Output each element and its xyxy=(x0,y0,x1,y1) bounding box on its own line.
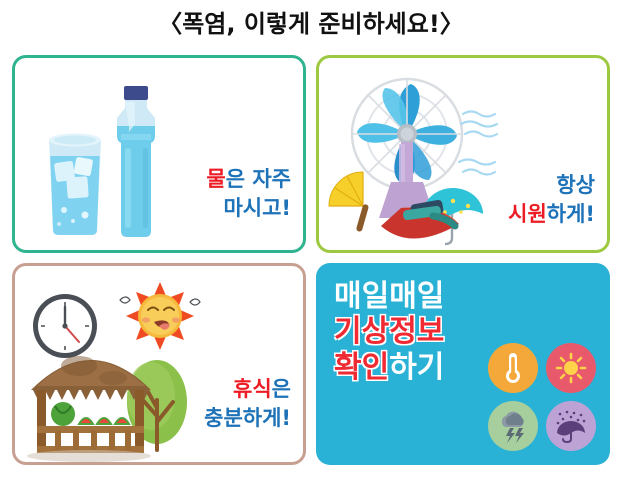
page-title: 〈폭염, 이렇게 준비하세요!〉 xyxy=(0,4,622,39)
sun-icon xyxy=(546,343,596,393)
caption-seg-blue-2: 마시고! xyxy=(223,196,291,220)
fan-and-parasol-illustration xyxy=(325,70,505,250)
caption-line-3: 확인하기 xyxy=(334,350,444,385)
caption-seg-white: 매일매일 xyxy=(334,279,444,314)
poster-canvas: 〈폭염, 이렇게 준비하세요!〉 xyxy=(0,0,622,486)
caption-check-weather: 매일매일 기상정보 확인하기 xyxy=(334,279,444,385)
panel-drink-water: 물은 자주 마시고! xyxy=(12,55,306,253)
caption-seg-blue-2: 충분하게! xyxy=(204,406,291,430)
panel-stay-cool: 항상 시원하게! xyxy=(316,55,610,253)
caption-seg-blue: 은 xyxy=(272,377,291,401)
caption-seg-red: 시원 xyxy=(508,202,547,226)
caption-line-1: 휴식은 xyxy=(204,375,291,403)
caption-seg-red-2: 확인 xyxy=(334,350,389,385)
caption-line-2: 기상정보 xyxy=(334,314,444,349)
caption-drink-water: 물은 자주 마시고! xyxy=(206,165,291,222)
caption-stay-cool: 항상 시원하게! xyxy=(508,171,595,228)
panel-take-rest: 휴식은 충분하게! xyxy=(12,263,306,465)
caption-line-2: 충분하게! xyxy=(204,404,291,432)
caption-line-1: 매일매일 xyxy=(334,279,444,314)
caption-line-2: 마시고! xyxy=(206,194,291,222)
caption-seg-blue: 은 자주 xyxy=(226,167,291,191)
panel-check-weather: 매일매일 기상정보 확인하기 xyxy=(316,263,610,465)
caption-line-1: 항상 xyxy=(508,171,595,199)
thermometer-icon xyxy=(488,343,538,393)
caption-seg-red: 기상정보 xyxy=(334,314,444,349)
caption-line-2: 시원하게! xyxy=(508,200,595,228)
water-glass-and-bottle-illustration xyxy=(29,78,179,238)
caption-seg-red: 휴식 xyxy=(233,377,272,401)
rain-umbrella-icon xyxy=(546,401,596,451)
caption-seg-blue-2: 하게! xyxy=(547,202,595,226)
caption-seg-red: 물 xyxy=(206,167,225,191)
caption-take-rest: 휴식은 충분하게! xyxy=(204,375,291,432)
caption-seg-white-2: 하기 xyxy=(389,350,444,385)
weather-icon-group xyxy=(488,343,596,451)
caption-seg-blue: 항상 xyxy=(556,173,595,197)
caption-line-1: 물은 자주 xyxy=(206,165,291,193)
clock-sun-gazebo-illustration xyxy=(21,274,211,464)
thunderstorm-icon xyxy=(488,401,538,451)
